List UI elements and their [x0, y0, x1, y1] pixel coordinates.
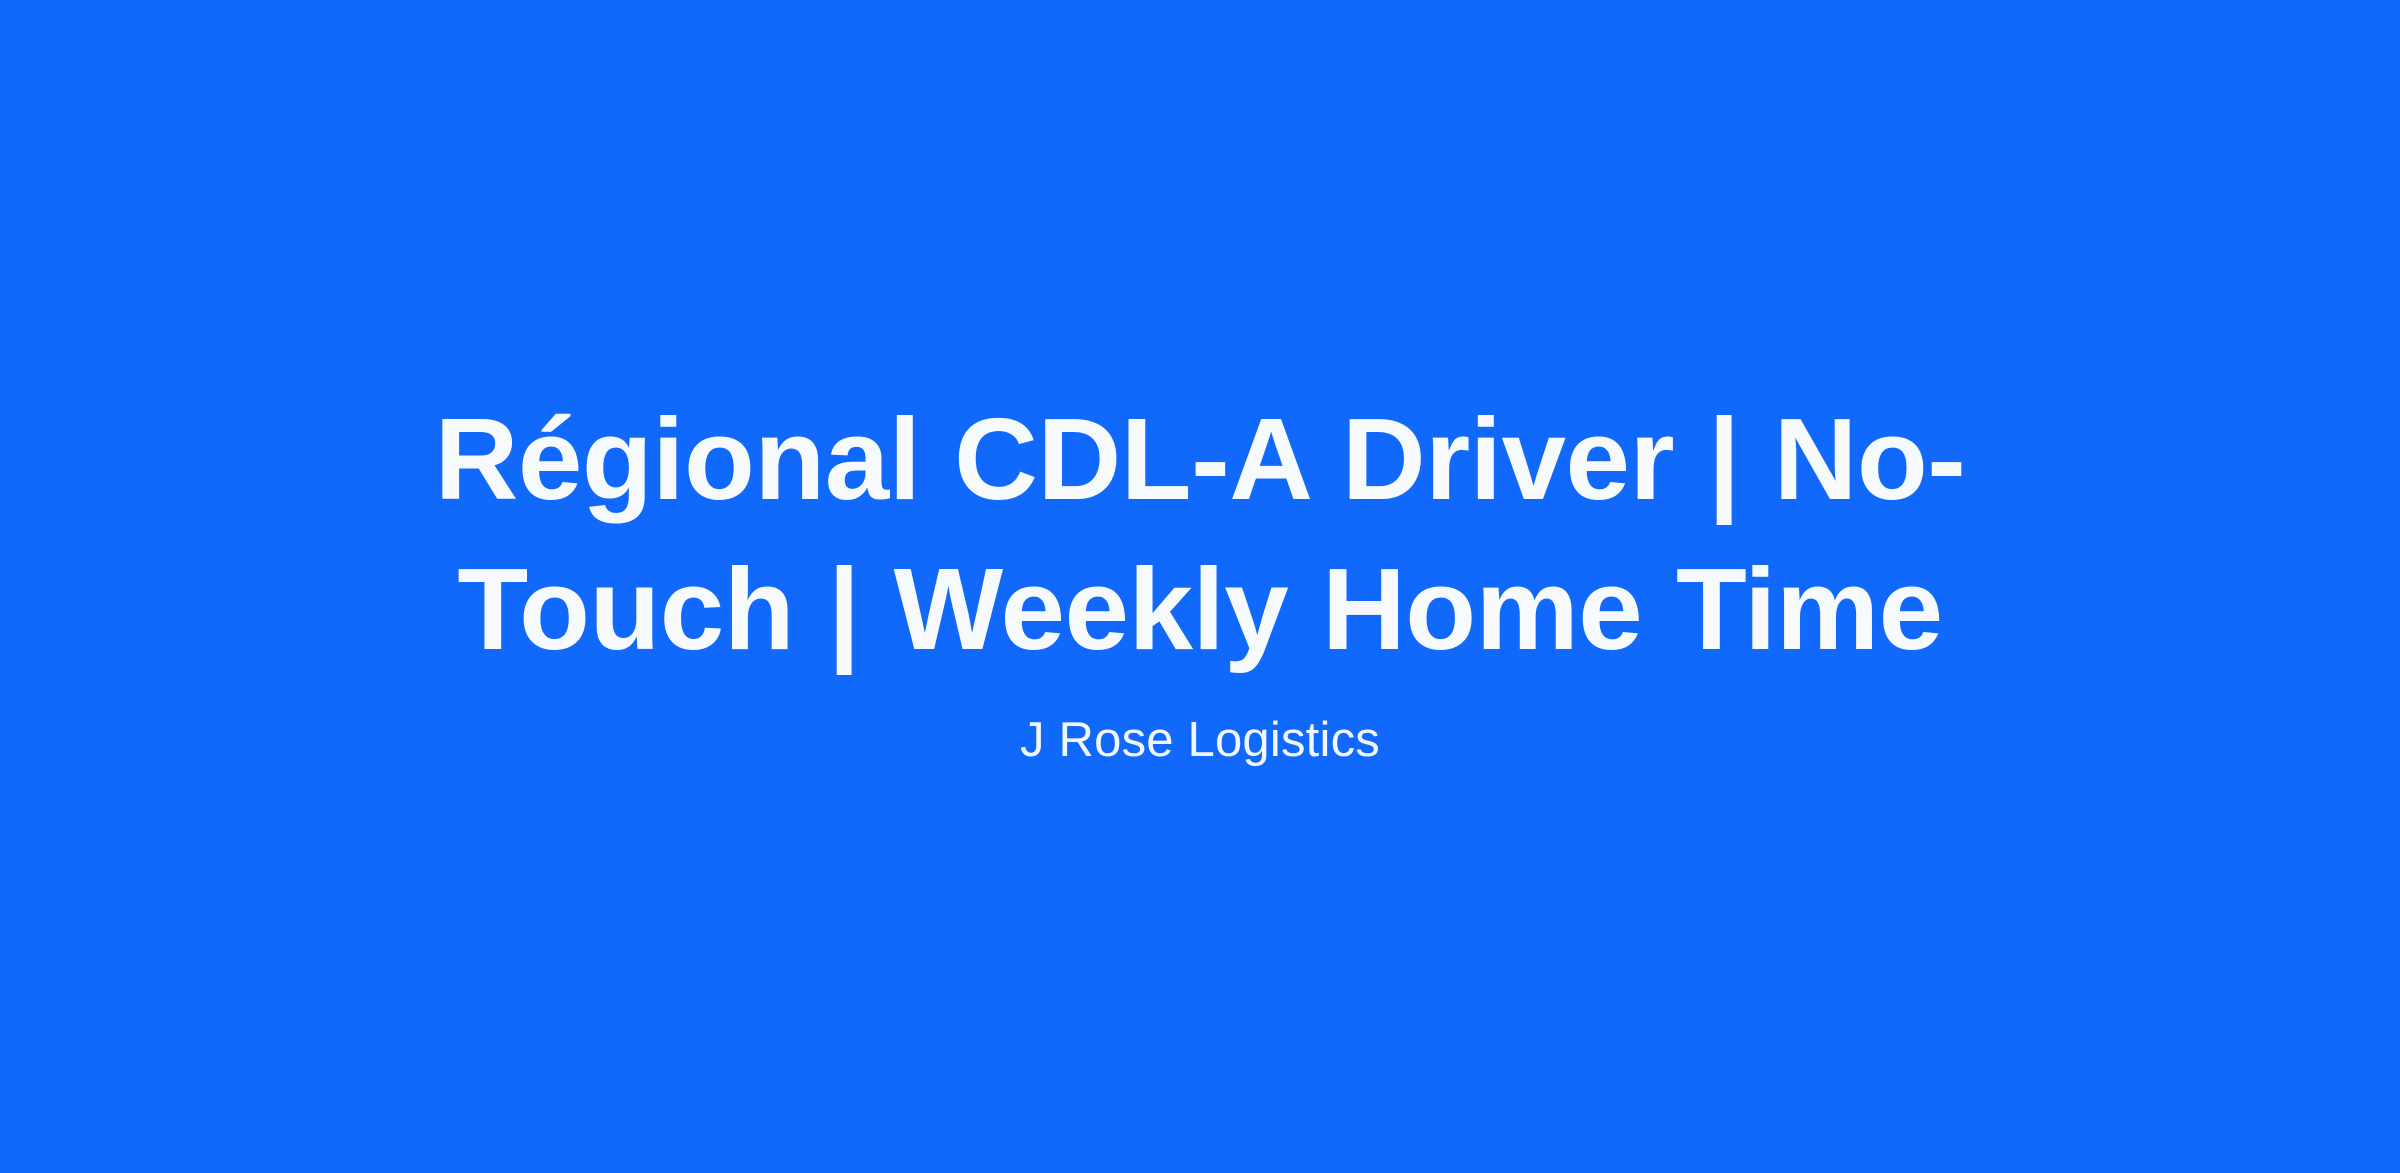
title-block: Régional CDL-A Driver | No-Touch | Weekl… — [360, 384, 2040, 770]
title-slide: Régional CDL-A Driver | No-Touch | Weekl… — [0, 0, 2400, 1173]
company-subtitle: J Rose Logistics — [360, 684, 2040, 770]
page-title: Régional CDL-A Driver | No-Touch | Weekl… — [360, 384, 2040, 684]
